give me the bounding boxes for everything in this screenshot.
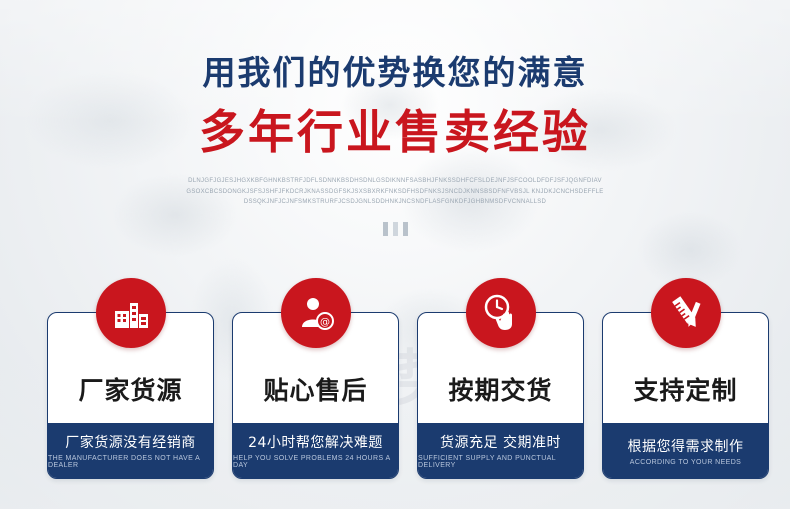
feature-card-footer: 货源充足 交期准时 Sufficient supply and punctual… [418,423,583,478]
feature-card-footer-en: Help you solve problems 24 hours a day [233,455,398,469]
decorative-blurb-text: DLNJGFJGJESJHGXKBFGHNKBSTRFJDFLSDNNKBSDH… [185,176,605,208]
slide-indicator-dot-2 [393,222,398,236]
feature-card: 厂家货源 厂家货源没有经销商 The manufacturer does not… [47,312,214,479]
headline-block: 用我们的优势换您的满意 多年行业售卖经验 DLNJGFJGJESJHGXKBFG… [0,52,790,208]
customer-service-icon: @ [281,278,351,348]
svg-text:@: @ [320,317,330,328]
feature-card-title: 按期交货 [448,371,552,407]
feature-card-footer: 根据您得需求制作 According to your needs [603,423,768,478]
feature-card-title: 贴心售后 [263,371,367,407]
feature-card-footer-en: The manufacturer does not have a dealer [48,455,213,469]
feature-card-footer: 厂家货源没有经销商 The manufacturer does not have… [48,423,213,478]
headline-secondary: 多年行业售卖经验 [0,105,790,160]
ruler-pencil-icon [651,278,721,348]
slide-indicator-dot-1 [383,222,388,236]
feature-card: 按期交货 货源充足 交期准时 Sufficient supply and pun… [417,312,584,479]
feature-card-title: 支持定制 [633,371,737,407]
slide-indicator [0,222,790,236]
feature-card-footer-en: According to your needs [630,459,742,466]
feature-card-footer-cn: 根据您得需求制作 [628,436,744,456]
feature-card-footer-cn: 货源充足 交期准时 [440,432,561,452]
feature-card-list: 厂家货源 厂家货源没有经销商 The manufacturer does not… [47,312,769,479]
promo-banner: 优势 用我们的优势换您的满意 多年行业售卖经验 DLNJGFJGJESJHGXK… [0,0,790,509]
feature-card-footer-en: Sufficient supply and punctual delivery [418,455,583,469]
factory-icon [96,278,166,348]
headline-primary: 用我们的优势换您的满意 [0,52,790,93]
clock-hand-icon [466,278,536,348]
feature-card: 支持定制 根据您得需求制作 According to your needs [602,312,769,479]
slide-indicator-dot-3 [403,222,408,236]
feature-card: @ 贴心售后 24小时帮您解决难题 Help you solve problem… [232,312,399,479]
feature-card-footer: 24小时帮您解决难题 Help you solve problems 24 ho… [233,423,398,478]
feature-card-footer-cn: 24小时帮您解决难题 [248,432,383,452]
feature-card-title: 厂家货源 [78,371,182,407]
feature-card-footer-cn: 厂家货源没有经销商 [65,432,196,452]
